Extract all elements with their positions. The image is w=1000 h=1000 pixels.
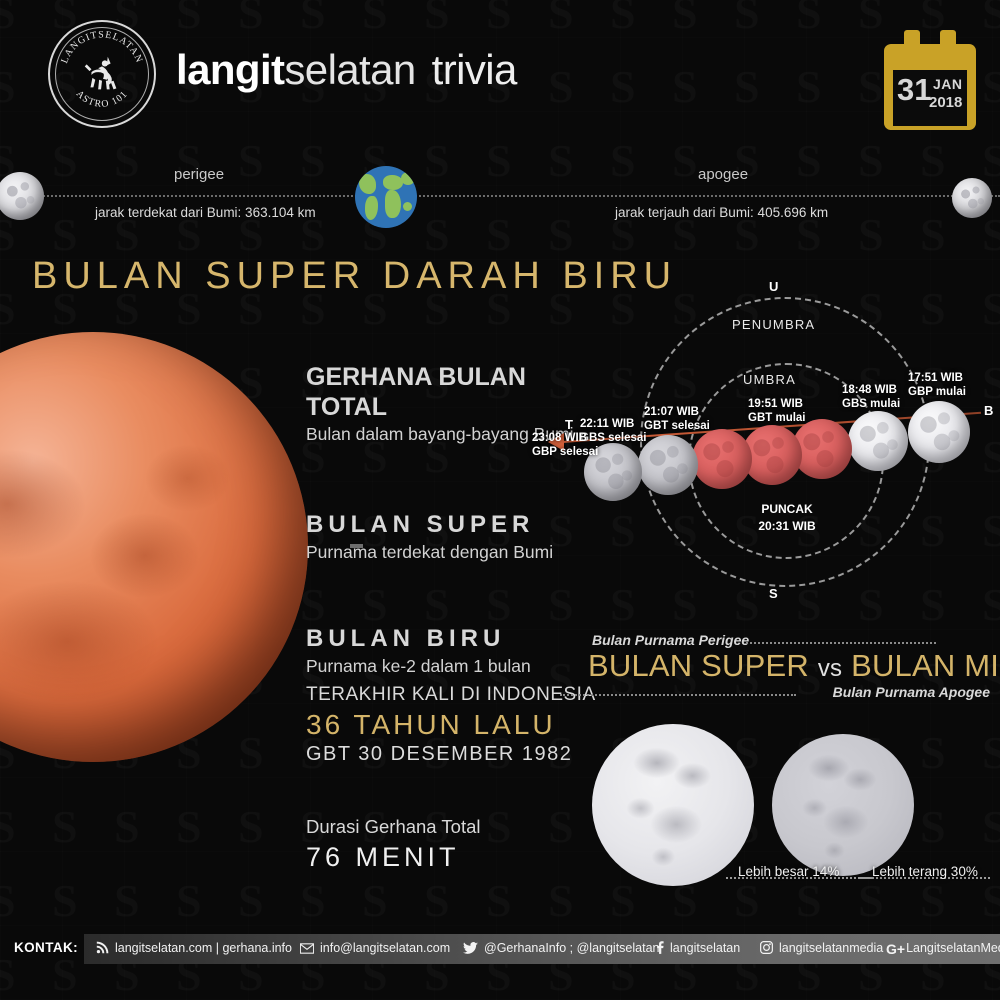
brand-bold: langit <box>176 46 284 93</box>
brand-light: selatan <box>284 46 415 93</box>
watermark-s: S <box>52 804 78 850</box>
horse-rider-icon <box>79 51 125 97</box>
watermark-s: S <box>176 804 202 850</box>
calendar-year: 2018 <box>929 94 962 111</box>
apogee-label: apogee <box>698 166 748 183</box>
watermark-s: S <box>486 878 512 924</box>
phase-event: GBS mulai <box>842 398 900 410</box>
google-plus-icon: G+ <box>886 941 905 957</box>
caption-brightness: Lebih terang 30% <box>872 864 978 879</box>
footer-link-label: info@langitselatan.com <box>320 941 450 955</box>
eclipse-peak-block: PUNCAK 20:31 WIB <box>732 501 842 535</box>
contact-label: KONTAK: <box>14 940 78 955</box>
phase-time: 19:51 WIB <box>748 398 803 410</box>
minimoon-illustration <box>772 734 914 876</box>
footer-link-label: LangitselatanMedia <box>906 941 1000 955</box>
phase-event: GBT selesai <box>644 420 710 432</box>
watermark-s: S <box>300 878 326 924</box>
calendar-month: JAN <box>933 76 963 92</box>
supermoon-vs-minimoon-block: Bulan Purnama Perigee BULAN SUPER vs BUL… <box>560 632 990 892</box>
duration-label: Durasi Gerhana Total <box>306 816 480 838</box>
orbit-dotted-line <box>0 195 1000 197</box>
watermark-s: S <box>0 286 16 332</box>
feature-divider-dash <box>350 544 363 548</box>
eclipse-moon-2211 <box>638 435 698 495</box>
brand-title: langitselatantrivia <box>176 42 517 98</box>
watermark-s: S <box>238 804 264 850</box>
watermark-s: S <box>238 730 264 776</box>
earth-icon <box>355 166 417 228</box>
axis-label-north: U <box>769 279 778 294</box>
last-occurrence-date: GBT 30 DESEMBER 1982 <box>306 743 596 766</box>
apogee-moon-icon <box>952 178 992 218</box>
compare-title-right: BULAN MINI <box>851 648 1000 683</box>
eclipse-moon-2107 <box>692 429 752 489</box>
footer-link-label: langitselatan.com | gerhana.info <box>115 941 292 955</box>
footer-link-twitter[interactable]: @GerhanaInfo ; @langitselatan <box>463 941 659 955</box>
rss-icon <box>96 941 109 954</box>
perigee-label: perigee <box>174 166 224 183</box>
axis-label-south: S <box>769 586 778 601</box>
phase-time: 18:48 WIB <box>842 384 897 396</box>
apogee-distance: jarak terjauh dari Bumi: 405.696 km <box>615 205 828 220</box>
watermark-s: S <box>0 804 16 850</box>
envelope-icon <box>300 943 314 954</box>
eclipse-phase-1848: 18:48 WIB GBS mulai <box>842 383 900 411</box>
eclipse-moon-1751 <box>908 401 970 463</box>
last-occurrence-block: TERAKHIR KALI DI INDONESIA 36 TAHUN LALU… <box>306 684 596 766</box>
perigee-moon-icon <box>0 172 44 220</box>
watermark-s: S <box>176 878 202 924</box>
supermoon-illustration <box>592 724 754 886</box>
duration-value: 76 MENIT <box>306 842 480 873</box>
watermark-s: S <box>114 878 140 924</box>
duration-block: Durasi Gerhana Total 76 MENIT <box>306 816 480 873</box>
watermark-s: S <box>362 878 388 924</box>
instagram-icon <box>760 941 773 954</box>
footer-link-label: @GerhanaInfo ; @langitselatan <box>484 941 659 955</box>
footer-link-facebook[interactable]: langitselatan <box>656 941 740 955</box>
footer: KONTAK: langitselatan.com | gerhana.info… <box>0 934 1000 964</box>
compare-dotted-line-top <box>746 642 936 644</box>
phase-event: GBP selesai <box>532 446 598 458</box>
footer-link-label: langitselatanmedia <box>779 941 883 955</box>
phase-time: 17:51 WIB <box>908 372 963 384</box>
compare-title: BULAN SUPER vs BULAN MINI <box>588 648 1000 684</box>
axis-label-west: T <box>565 417 573 432</box>
phase-event: GBP mulai <box>908 386 966 398</box>
twitter-icon <box>463 942 478 954</box>
eclipse-phase-1951: 19:51 WIB GBT mulai <box>748 397 806 425</box>
eclipse-phase-2308: 23:08 WIB GBP selesai <box>532 431 598 459</box>
eclipse-phase-1751: 17:51 WIB GBP mulai <box>908 371 966 399</box>
perigee-distance: jarak terdekat dari Bumi: 363.104 km <box>95 205 316 220</box>
compare-subtitle-apogee: Bulan Purnama Apogee <box>833 684 990 700</box>
logo-ring-text: LANGITSELATAN ASTRO 101 <box>50 22 154 126</box>
footer-link-email[interactable]: info@langitselatan.com <box>300 941 450 955</box>
footer-link-label: langitselatan <box>670 941 740 955</box>
orbit-strip: perigee jarak terdekat dari Bumi: 363.10… <box>0 150 1000 260</box>
calendar-day: 31 <box>897 74 931 105</box>
last-occurrence-label: TERAKHIR KALI DI INDONESIA <box>306 684 596 706</box>
watermark-s: S <box>52 878 78 924</box>
footer-link-website[interactable]: langitselatan.com | gerhana.info <box>96 941 292 955</box>
peak-time: 20:31 WIB <box>732 518 842 535</box>
eclipse-phase-2107: 21:07 WIB GBT selesai <box>644 405 710 433</box>
langitselatan-logo: LANGITSELATAN ASTRO 101 <box>48 20 156 128</box>
umbra-label: UMBRA <box>743 372 796 387</box>
header: LANGITSELATAN ASTRO 101 langitselatantri… <box>0 0 1000 148</box>
peak-label: PUNCAK <box>732 501 842 518</box>
eclipse-diagram: U S T B PENUMBRA UMBRA 17:51 WIB GBP mul… <box>540 275 1000 615</box>
compare-title-vs: vs <box>818 655 842 682</box>
caption-size: Lebih besar 14% <box>738 864 839 879</box>
phase-time: 22:11 WIB <box>580 418 634 430</box>
compare-dotted-line-bottom <box>560 694 796 696</box>
brand-suffix: trivia <box>432 46 517 93</box>
watermark-s: S <box>114 804 140 850</box>
compare-title-left: BULAN SUPER <box>588 648 809 683</box>
penumbra-label: PENUMBRA <box>732 317 815 332</box>
footer-link-instagram[interactable]: langitselatanmedia <box>760 941 883 955</box>
last-occurrence-years: 36 TAHUN LALU <box>306 709 596 741</box>
phase-time: 21:07 WIB <box>644 406 699 418</box>
eclipse-moon-1848 <box>848 411 908 471</box>
footer-link-googleplus[interactable]: G+LangitselatanMedia <box>886 941 1000 957</box>
compare-subtitle-perigee: Bulan Purnama Perigee <box>592 632 749 648</box>
watermark-s: S <box>424 878 450 924</box>
phase-time: 23:08 WIB <box>532 432 587 444</box>
watermark-s: S <box>238 878 264 924</box>
calendar-body: 31 JAN 2018 <box>884 44 976 130</box>
facebook-icon <box>656 941 664 954</box>
logo-ring-bottom-text: ASTRO 101 <box>74 89 130 110</box>
axis-label-east: B <box>984 403 993 418</box>
logo-ring-top-text: LANGITSELATAN <box>59 29 145 65</box>
watermark-s: S <box>0 878 16 924</box>
calendar-icon: 31 JAN 2018 <box>884 30 976 130</box>
phase-event: GBT mulai <box>748 412 806 424</box>
calendar-screen: 31 JAN 2018 <box>893 70 967 126</box>
watermark-s: S <box>486 804 512 850</box>
